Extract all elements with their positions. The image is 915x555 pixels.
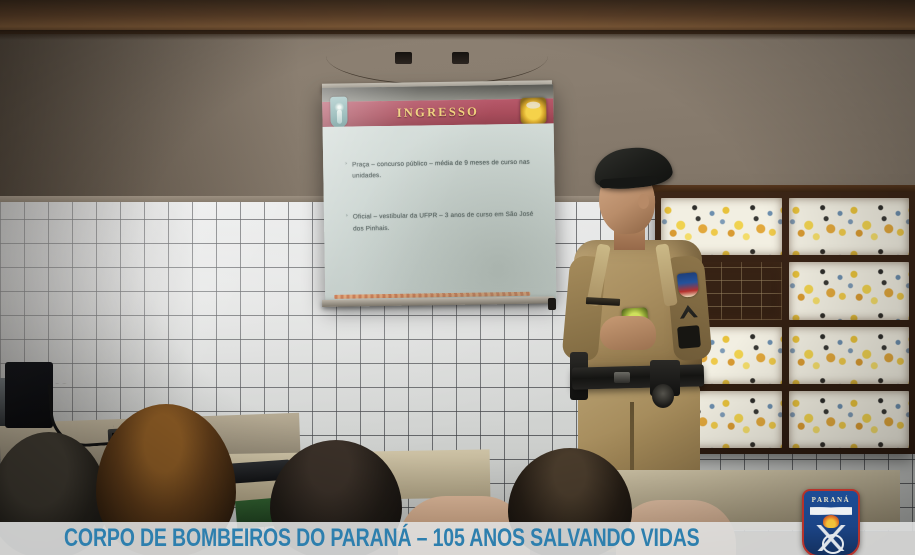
- photo-scene: INGRESSO › Praça – concurso público – mé…: [0, 0, 915, 555]
- brasao-parana-icon: PARANÁ: [802, 489, 860, 555]
- badge-label: PARANÁ: [804, 496, 858, 504]
- belt-buckle: [614, 372, 630, 383]
- slide-header: INGRESSO: [322, 98, 553, 127]
- slide-title: INGRESSO: [397, 105, 479, 121]
- banner-title: CORPO DE BOMBEIROS DO PARANÁ – 105 ANOS …: [64, 524, 700, 553]
- speaker-hands: [600, 316, 656, 350]
- cabinet-pane[interactable]: [789, 327, 910, 384]
- bullet-marker: ›: [346, 212, 348, 234]
- beret-icon: [592, 144, 674, 192]
- logo-dourado-icon: [520, 97, 546, 123]
- projection-screen: INGRESSO › Praça – concurso público – mé…: [322, 84, 556, 303]
- bullet-marker: ›: [345, 160, 347, 182]
- bullet-text: Oficial – vestibular da UFPR – 3 anos de…: [353, 209, 540, 234]
- ceiling-beam: [0, 0, 915, 34]
- duty-belt: [572, 364, 705, 389]
- monitor: [5, 362, 53, 428]
- cabinet-pane[interactable]: [789, 262, 910, 319]
- slide-body: › Praça – concurso público – média de 9 …: [323, 123, 557, 291]
- speaker-ear: [638, 194, 649, 209]
- holster-icon: [652, 384, 674, 408]
- screen-mount-bracket: [452, 52, 469, 64]
- wall-shadow: [0, 20, 300, 210]
- bullet-text: Praça – concurso público – média de 9 me…: [352, 157, 539, 182]
- rank-insignia-icon: [677, 325, 701, 349]
- brasao-corpo-de-bombeiros-icon: [330, 97, 347, 128]
- screen-mount-bracket: [395, 52, 412, 64]
- slide-bullet: › Oficial – vestibular da UFPR – 3 anos …: [346, 209, 539, 234]
- bottom-banner: CORPO DE BOMBEIROS DO PARANÁ – 105 ANOS …: [0, 522, 915, 555]
- slide-bullet: › Praça – concurso público – média de 9 …: [345, 157, 538, 182]
- badge-circle: [822, 534, 844, 554]
- sleeve-patch-icon: [677, 272, 699, 298]
- cabinet-pane[interactable]: [789, 198, 910, 255]
- cabinet-pane[interactable]: [789, 391, 910, 448]
